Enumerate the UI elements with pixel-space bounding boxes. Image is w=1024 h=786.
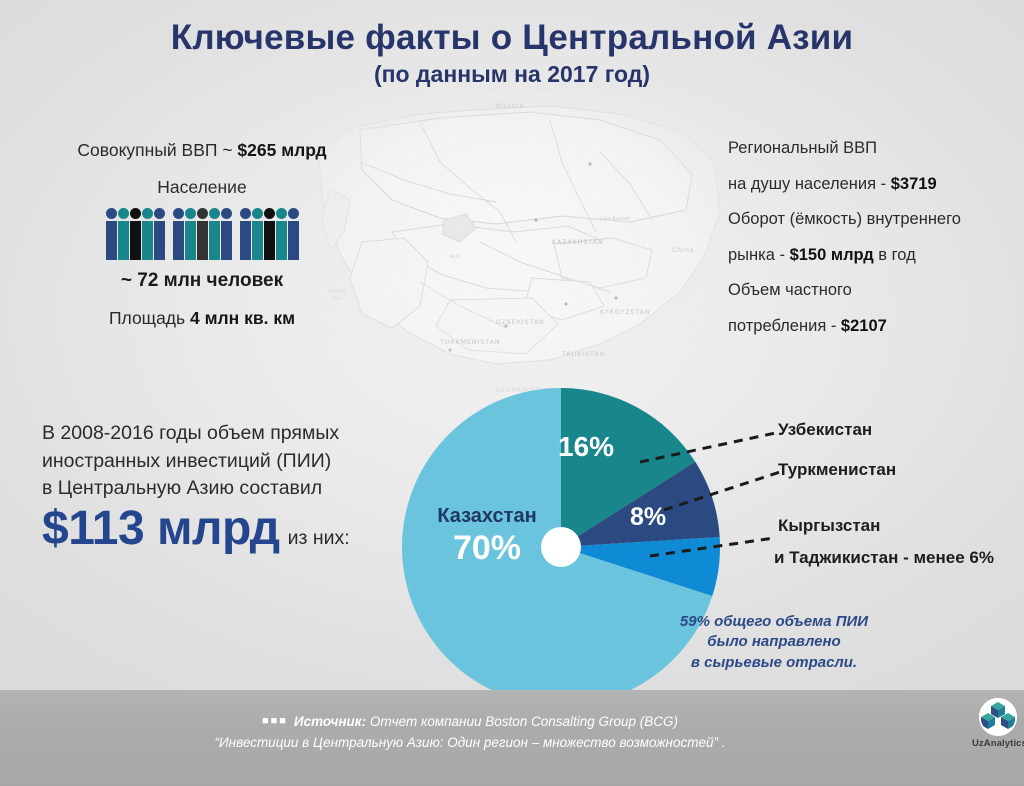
person-head-icon <box>276 208 287 219</box>
gdp-total-value: $265 млрд <box>237 140 326 160</box>
person-head-icon <box>252 208 263 219</box>
footer-source: ■■■Источник: Отчет компании Boston Consa… <box>0 712 940 754</box>
footer-source-label: Источник: <box>294 714 366 729</box>
svg-text:Aral: Aral <box>449 254 460 260</box>
svg-text:TAJIKISTAN: TAJIKISTAN <box>561 351 605 358</box>
person-body-icon <box>118 221 129 260</box>
person-body-icon <box>106 221 117 260</box>
person-head-icon <box>130 208 141 219</box>
page-title: Ключевые факты о Центральной Азии (по да… <box>0 18 1024 88</box>
person-body-icon <box>142 221 153 260</box>
person-body-icon <box>276 221 287 260</box>
svg-text:TURKMENISTAN: TURKMENISTAN <box>439 339 500 346</box>
pie-leader-lines <box>640 400 790 590</box>
right-stat-text: Региональный ВВП <box>728 139 877 157</box>
person-head-icon <box>173 208 184 219</box>
person-icon <box>252 208 263 260</box>
fdi-note-line-2: было направлено <box>524 632 1024 652</box>
legend-item-kyrgyzstan[interactable]: Кыргызстан <box>778 516 880 536</box>
area-prefix: Площадь <box>109 308 190 328</box>
person-head-icon <box>106 208 117 219</box>
right-stat-value: $3719 <box>891 175 937 193</box>
person-body-icon <box>173 221 184 260</box>
bullet-squares-icon: ■■■ <box>262 715 288 727</box>
fdi-note-line-1: 59% общего объема ПИИ <box>524 612 1024 632</box>
person-icon <box>240 208 251 260</box>
legend-item-tajikistan[interactable]: и Таджикистан - менее 6% <box>774 548 994 568</box>
person-body-icon <box>209 221 220 260</box>
person-body-icon <box>240 221 251 260</box>
footer-source-line-1: ■■■Источник: Отчет компании Boston Consa… <box>0 712 940 733</box>
area-value: 4 млн кв. км <box>190 308 295 328</box>
person-head-icon <box>240 208 251 219</box>
population-people-icons <box>42 208 362 260</box>
right-stat-suffix: в год <box>874 246 916 264</box>
person-icon <box>264 208 275 260</box>
person-body-icon <box>197 221 208 260</box>
population-value: ~ 72 млн человек <box>42 270 362 292</box>
fdi-note: 59% общего объема ПИИ было направлено в … <box>524 612 1024 673</box>
title-subtitle: (по данным на 2017 год) <box>0 61 1024 88</box>
person-icon <box>276 208 287 260</box>
person-body-icon <box>185 221 196 260</box>
person-body-icon <box>154 221 165 260</box>
person-icon <box>197 208 208 260</box>
svg-text:KYRGYZSTAN: KYRGYZSTAN <box>600 309 651 316</box>
title-main: Ключевые факты о Центральной Азии <box>0 18 1024 58</box>
uzanalytics-logo[interactable]: UzAnalytics <box>972 698 1024 749</box>
fdi-line-3: в Центральную Азию составил <box>42 475 432 503</box>
right-stat-line-1: Региональный ВВП <box>728 140 1018 157</box>
fdi-note-line-3: в сырьевые отрасли. <box>524 653 1024 673</box>
person-head-icon <box>118 208 129 219</box>
fdi-of-which: из них: <box>288 527 350 550</box>
right-stat-line-2: на душу населения - $3719 <box>728 176 1018 193</box>
right-stat-text: на душу населения - <box>728 175 891 193</box>
person-icon <box>288 208 299 260</box>
right-stat-text: рынка - <box>728 246 790 264</box>
right-stat-value: $150 млрд <box>790 246 874 264</box>
svg-text:China: China <box>672 247 695 254</box>
svg-text:Lake Balkash: Lake Balkash <box>600 216 630 222</box>
gdp-total-line: Совокупный ВВП ~ $265 млрд <box>42 140 362 160</box>
infographic-root: RUSSIA KAZAKHSTAN UZBEKISTAN KYRGYZSTAN … <box>0 0 1024 786</box>
right-stat-text: потребления - <box>728 317 841 335</box>
svg-text:RUSSIA: RUSSIA <box>496 103 525 110</box>
person-icon <box>118 208 129 260</box>
svg-text:UZBEKISTAN: UZBEKISTAN <box>496 319 545 326</box>
right-stat-text: Объем частного <box>728 281 852 299</box>
person-body-icon <box>288 221 299 260</box>
right-stat-line-5: Объем частного <box>728 282 1018 299</box>
right-stat-line-6: потребления - $2107 <box>728 318 1018 335</box>
person-head-icon <box>288 208 299 219</box>
gdp-total-prefix: Совокупный ВВП ~ <box>77 140 237 160</box>
fdi-text-block: В 2008-2016 годы объем прямых иностранны… <box>42 420 432 553</box>
person-body-icon <box>252 221 263 260</box>
person-icon <box>106 208 117 260</box>
population-label: Население <box>42 177 362 198</box>
person-head-icon <box>221 208 232 219</box>
person-icon <box>173 208 184 260</box>
person-body-icon <box>264 221 275 260</box>
central-asia-map-watermark: RUSSIA KAZAKHSTAN UZBEKISTAN KYRGYZSTAN … <box>300 92 730 402</box>
person-icon <box>130 208 141 260</box>
people-group-2 <box>173 208 232 260</box>
fdi-line-2: иностранных инвестиций (ПИИ) <box>42 448 432 476</box>
right-stat-line-3: Оборот (ёмкость) внутреннего <box>728 211 1018 228</box>
fdi-line-1: В 2008-2016 годы объем прямых <box>42 420 432 448</box>
logo-text: UzAnalytics <box>972 738 1024 749</box>
cube-logo-icon <box>979 698 1017 736</box>
fdi-amount: $113 млрд <box>42 505 280 553</box>
person-icon <box>209 208 220 260</box>
person-icon <box>142 208 153 260</box>
footer-source-line-2: “Инвестиции в Центральную Азию: Один рег… <box>0 733 940 754</box>
person-icon <box>221 208 232 260</box>
legend-item-uzbekistan[interactable]: Узбекистан <box>778 420 872 440</box>
left-stats-block: Совокупный ВВП ~ $265 млрд Население ~ 7… <box>42 140 362 329</box>
pie-center-dot <box>541 527 581 567</box>
person-head-icon <box>264 208 275 219</box>
right-stats-block: Региональный ВВПна душу населения - $371… <box>728 140 1018 353</box>
fdi-amount-row: $113 млрд из них: <box>42 505 432 553</box>
people-group-3 <box>240 208 299 260</box>
person-head-icon <box>185 208 196 219</box>
person-head-icon <box>197 208 208 219</box>
person-head-icon <box>142 208 153 219</box>
person-body-icon <box>130 221 141 260</box>
area-line: Площадь 4 млн кв. км <box>42 308 362 329</box>
right-stat-line-4: рынка - $150 млрд в год <box>728 247 1018 264</box>
right-stat-value: $2107 <box>841 317 887 335</box>
person-body-icon <box>221 221 232 260</box>
person-icon <box>185 208 196 260</box>
right-stat-text: Оборот (ёмкость) внутреннего <box>728 210 961 228</box>
person-head-icon <box>209 208 220 219</box>
footer-source-text: Отчет компании Boston Consalting Group (… <box>366 714 678 729</box>
people-group-1 <box>106 208 165 260</box>
legend-item-turkmenistan[interactable]: Туркменистан <box>778 460 896 480</box>
person-icon <box>154 208 165 260</box>
person-head-icon <box>154 208 165 219</box>
svg-text:KAZAKHSTAN: KAZAKHSTAN <box>552 239 603 246</box>
